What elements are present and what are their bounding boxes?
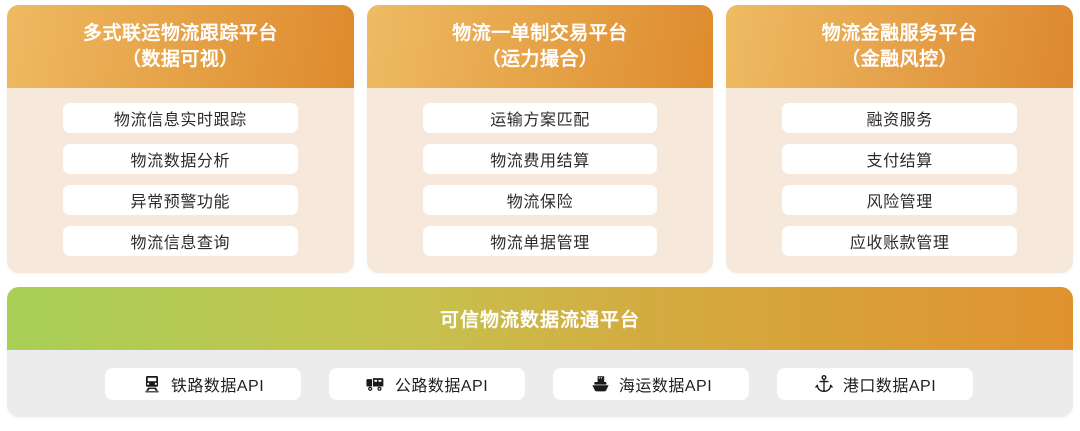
platform-card-body: 物流信息实时跟踪 物流数据分析 异常预警功能 物流信息查询	[7, 88, 354, 273]
platform-card-multimodal-tracking[interactable]: 多式联运物流跟踪平台 （数据可视） 物流信息实时跟踪 物流数据分析 异常预警功能…	[7, 5, 354, 273]
train-icon	[142, 374, 162, 394]
api-pill-label: 海运数据API	[619, 372, 712, 396]
feature-pill[interactable]: 异常预警功能	[63, 185, 298, 215]
api-pill-label: 公路数据API	[395, 372, 488, 396]
api-pill-shipping[interactable]: 海运数据API	[553, 368, 749, 400]
platform-card-header: 多式联运物流跟踪平台 （数据可视）	[7, 5, 354, 88]
feature-pill[interactable]: 风险管理	[782, 185, 1017, 215]
feature-pill[interactable]: 物流单据管理	[423, 226, 658, 256]
platform-title-line-1: 物流金融服务平台	[822, 21, 978, 47]
platform-title-line-1: 物流一单制交易平台	[452, 21, 628, 47]
platform-card-header: 物流金融服务平台 （金融风控）	[726, 5, 1073, 88]
platform-card-body: 融资服务 支付结算 风险管理 应收账款管理	[726, 88, 1073, 273]
feature-pill[interactable]: 物流保险	[423, 185, 658, 215]
platform-title-line-1: 多式联运物流跟踪平台	[83, 21, 278, 47]
platform-title-line-2: （数据可视）	[122, 47, 239, 73]
platform-card-header: 物流一单制交易平台 （运力撮合）	[367, 5, 714, 88]
truck-icon	[366, 374, 386, 394]
platform-title-line-2: （运力撮合）	[482, 47, 599, 73]
api-pill-port[interactable]: 港口数据API	[777, 368, 973, 400]
api-pill-label: 港口数据API	[843, 372, 936, 396]
feature-pill[interactable]: 物流费用结算	[423, 144, 658, 174]
api-pill-label: 铁路数据API	[171, 372, 264, 396]
foundation-band: 可信物流数据流通平台 铁路数据API	[7, 287, 1073, 417]
foundation-title: 可信物流数据流通平台	[7, 287, 1073, 350]
feature-pill[interactable]: 物流信息实时跟踪	[63, 103, 298, 133]
feature-pill[interactable]: 物流信息查询	[63, 226, 298, 256]
feature-pill[interactable]: 应收账款管理	[782, 226, 1017, 256]
api-pill-railway[interactable]: 铁路数据API	[105, 368, 301, 400]
anchor-icon	[814, 374, 834, 394]
platform-title-line-2: （金融风控）	[841, 47, 958, 73]
foundation-api-row: 铁路数据API 公路数据API	[7, 350, 1073, 417]
feature-pill[interactable]: 物流数据分析	[63, 144, 298, 174]
ship-icon	[590, 374, 610, 394]
platform-card-logistics-finance[interactable]: 物流金融服务平台 （金融风控） 融资服务 支付结算 风险管理 应收账款管理	[726, 5, 1073, 273]
feature-pill[interactable]: 融资服务	[782, 103, 1017, 133]
platform-card-single-bill-trading[interactable]: 物流一单制交易平台 （运力撮合） 运输方案匹配 物流费用结算 物流保险 物流单据…	[367, 5, 714, 273]
platform-cards-row: 多式联运物流跟踪平台 （数据可视） 物流信息实时跟踪 物流数据分析 异常预警功能…	[7, 5, 1073, 273]
api-pill-highway[interactable]: 公路数据API	[329, 368, 525, 400]
diagram-canvas: 多式联运物流跟踪平台 （数据可视） 物流信息实时跟踪 物流数据分析 异常预警功能…	[0, 0, 1080, 431]
feature-pill[interactable]: 运输方案匹配	[423, 103, 658, 133]
feature-pill[interactable]: 支付结算	[782, 144, 1017, 174]
platform-card-body: 运输方案匹配 物流费用结算 物流保险 物流单据管理	[367, 88, 714, 273]
